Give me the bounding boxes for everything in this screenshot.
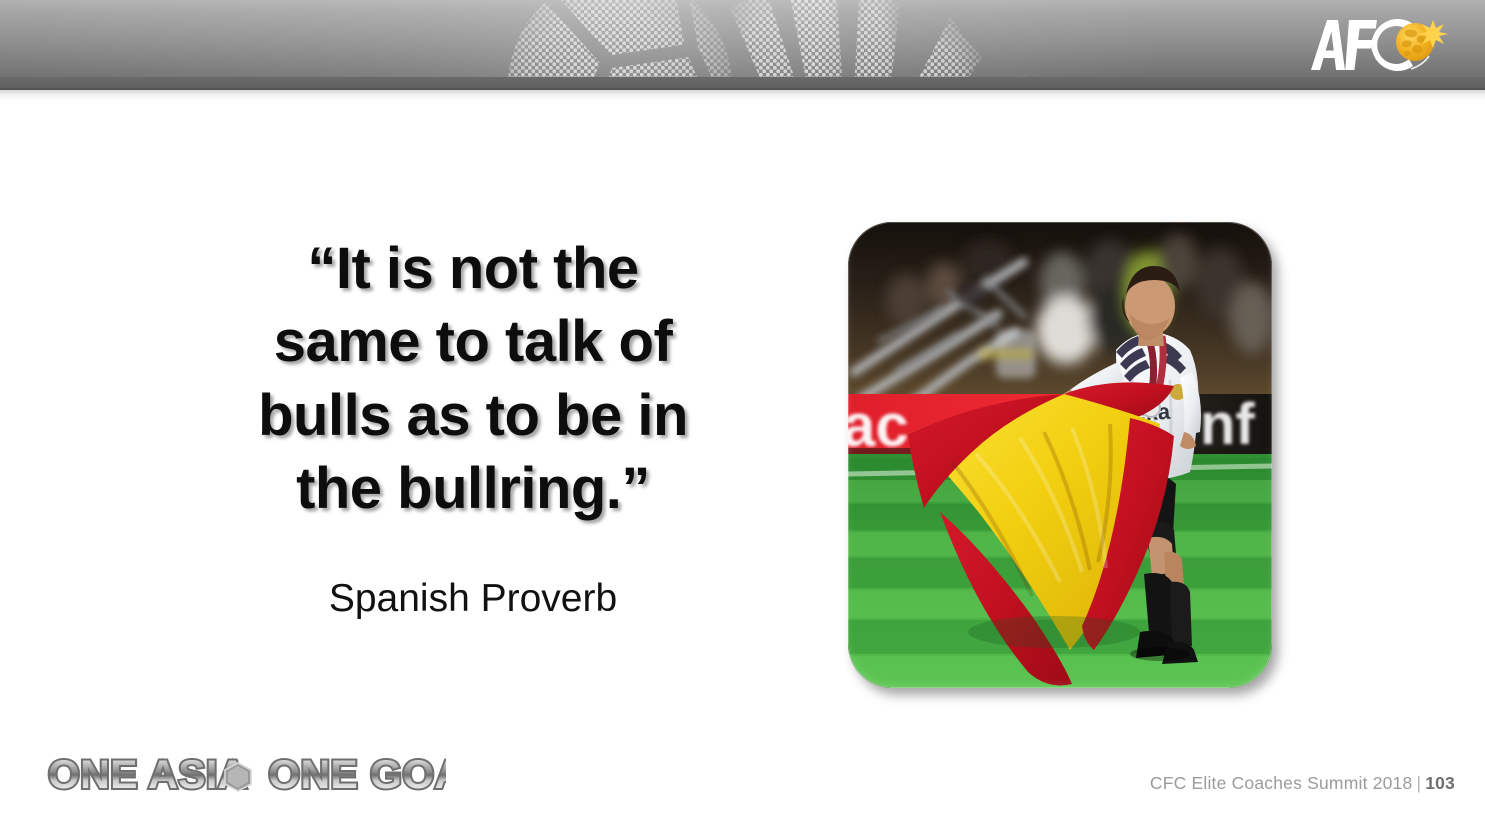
one-asia-text: ONE ASIA: [48, 751, 248, 797]
one-goal-text: ONE GOAL: [268, 751, 446, 797]
quote-attribution: Spanish Proverb: [148, 577, 798, 621]
footer-divider: |: [1412, 773, 1425, 793]
header-drop-shadow: [0, 90, 1485, 104]
quote-text: “It is not the same to talk of bulls as …: [148, 232, 798, 525]
footer-caption: CFC Elite Coaches Summit 2018|103: [1150, 773, 1455, 794]
slide-page-number: 103: [1425, 773, 1455, 793]
svg-text:nf: nf: [1200, 392, 1255, 457]
hexagon-icon: [225, 763, 251, 791]
header-bottom-slab: [0, 77, 1485, 90]
quote-line: the bullring.”: [148, 452, 798, 525]
quote-line: same to talk of: [148, 305, 798, 378]
header-bottom-rule: [0, 88, 1485, 90]
slide: “It is not the same to talk of bulls as …: [0, 0, 1485, 835]
footballer-with-spanish-flag-photo: ac nf: [848, 222, 1272, 688]
afc-logo: [1305, 14, 1455, 76]
quote-line: “It is not the: [148, 232, 798, 305]
footer-event-name: CFC Elite Coaches Summit 2018: [1150, 773, 1413, 793]
photo-canvas: ac nf: [848, 222, 1272, 688]
one-asia-one-goal-logo: ONE ASIA ONE ASIA ONE GOAL ONE GOAL: [46, 750, 446, 798]
quote-line: bulls as to be in: [148, 379, 798, 452]
slide-header-band: [0, 0, 1485, 90]
quote-block: “It is not the same to talk of bulls as …: [148, 232, 798, 621]
